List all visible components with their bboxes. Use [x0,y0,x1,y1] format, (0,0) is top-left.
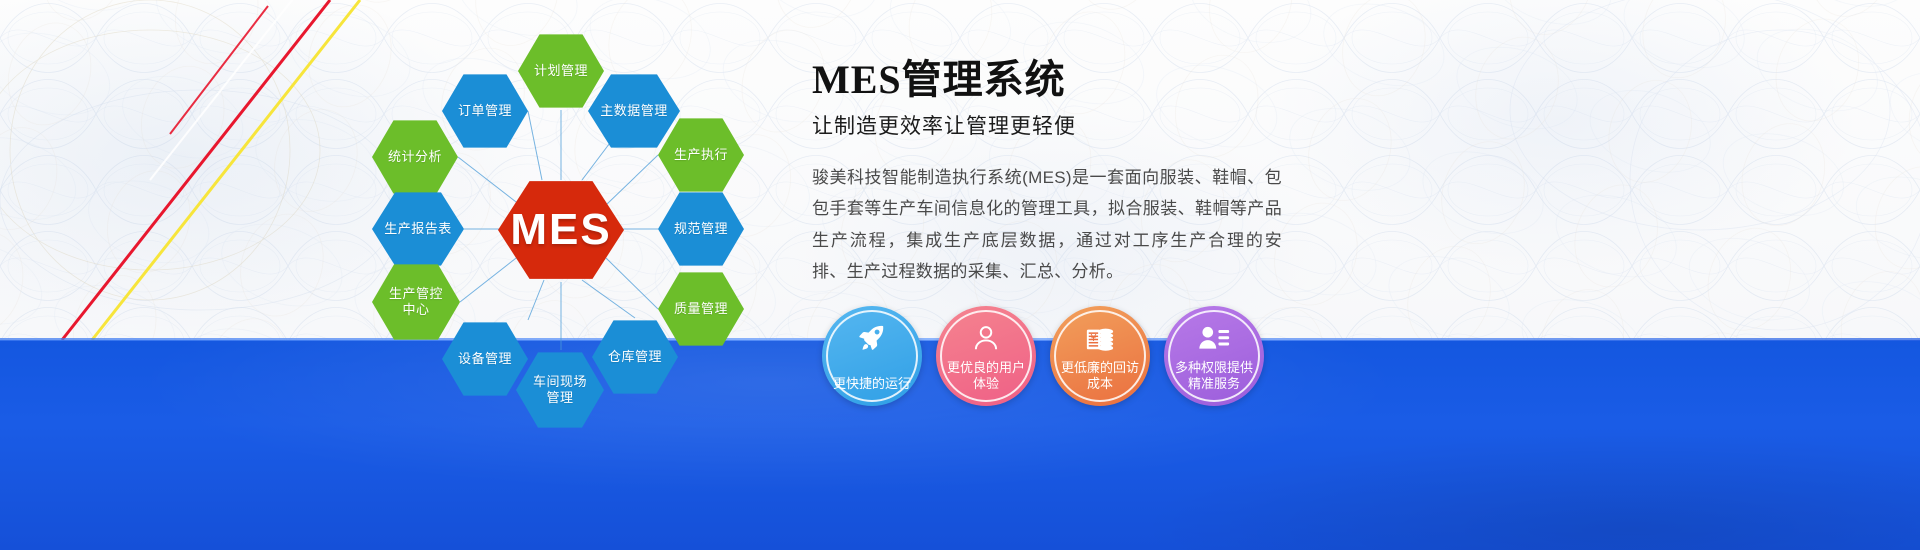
diagram-node-label: 生产报告表 [384,221,452,237]
diagram-node-label: 订单管理 [458,103,512,119]
money-icon: ¥ [1050,322,1150,354]
feature-badge[interactable]: 更快捷的运行 [822,306,922,406]
permission-icon [1164,322,1264,354]
diagram-node-label: 仓库管理 [608,349,662,365]
page-description: 骏美科技智能制造执行系统(MES)是一套面向服装、鞋帽、包包手套等生产车间信息化… [812,162,1282,288]
feature-badge[interactable]: ¥更低廉的回访成本 [1050,306,1150,406]
marketing-copy: MES管理系统 让制造更效率让管理更轻便 骏美科技智能制造执行系统(MES)是一… [812,58,1282,288]
diagram-node-label: 生产管控中心 [383,286,449,318]
mes-hexagon-diagram: MES 计划管理订单管理主数据管理统计分析生产执行生产报告表规范管理生产管控中心… [330,0,800,440]
feature-badge-label: 更低廉的回访成本 [1050,360,1150,393]
user-icon [936,322,1036,354]
feature-badge[interactable]: 多种权限提供精准服务 [1164,306,1264,406]
diagram-node-label: 统计分析 [388,149,442,165]
svg-text:¥: ¥ [1090,333,1097,344]
diagram-node-label: 生产执行 [674,147,728,163]
diagram-node-label: 计划管理 [534,63,588,79]
banner-stage: MES 计划管理订单管理主数据管理统计分析生产执行生产报告表规范管理生产管控中心… [0,0,1920,550]
feature-badge-label: 更快捷的运行 [825,376,919,392]
diagram-node-label: 设备管理 [458,351,512,367]
feature-badge-label: 多种权限提供精准服务 [1164,360,1264,393]
page-title: MES管理系统 [812,58,1282,102]
diagram-node-label: 规范管理 [674,221,728,237]
feature-badge[interactable]: 更优良的用户体验 [936,306,1036,406]
diagram-center-label: MES [510,203,611,257]
diagram-node-label: 质量管理 [674,301,728,317]
page-subtitle: 让制造更效率让管理更轻便 [812,110,1282,140]
diagram-node-label: 主数据管理 [600,103,668,119]
feature-badge-label: 更优良的用户体验 [936,360,1036,393]
rocket-icon [822,322,922,354]
diagram-node-label: 车间现场管理 [527,374,593,406]
feature-badge-list: 更快捷的运行更优良的用户体验¥更低廉的回访成本多种权限提供精准服务 [822,306,1264,406]
